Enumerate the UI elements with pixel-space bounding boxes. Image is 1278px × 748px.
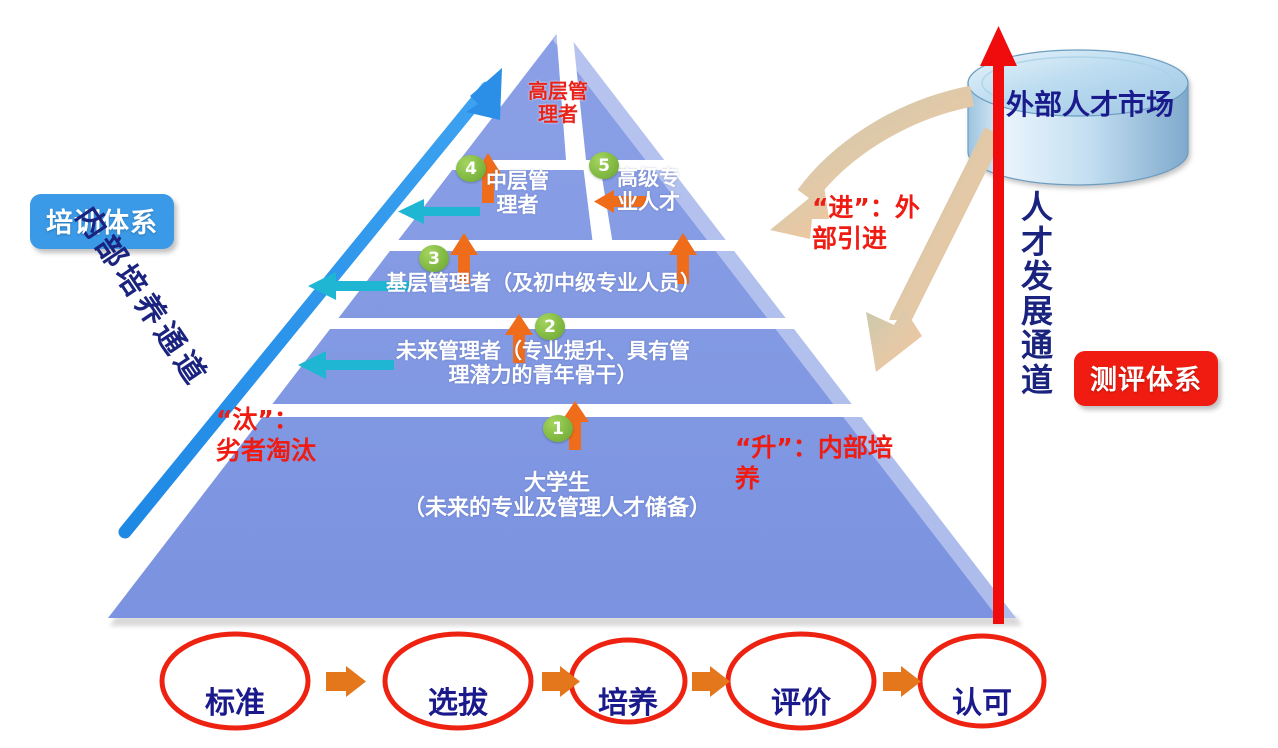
process-flow: 标准 选拔 培养 评价 认可: [0, 628, 1278, 736]
label-external-channel: 人才发展通道: [1016, 190, 1058, 397]
tier-label-senior-specialist: 高级专业人才: [617, 167, 680, 214]
flow-node-label: 认可: [952, 678, 1012, 722]
step-badge-5[interactable]: 5: [589, 152, 619, 179]
step-badge-1[interactable]: 1: [543, 415, 573, 442]
flow-node-recognition[interactable]: 认可: [920, 656, 1044, 746]
tier-label-frontline: 基层管理者（及初中级专业人员）: [386, 272, 701, 296]
step-badge-4[interactable]: 4: [456, 155, 486, 182]
flow-node-label: 标准: [205, 678, 265, 722]
flow-node-standard[interactable]: 标准: [162, 654, 308, 748]
step-badge-3[interactable]: 3: [419, 245, 449, 272]
flow-node-selection[interactable]: 选拔: [385, 654, 531, 748]
tier-label-top-management: 高层管理者: [528, 80, 588, 126]
annotation-elimination: “汰”：劣者淘汰: [216, 404, 316, 467]
tier-label-students: 大学生（未来的专业及管理人才储备）: [403, 472, 711, 521]
annotation-promotion: “升”：内部培养: [735, 432, 893, 495]
flow-node-evaluation[interactable]: 评价: [728, 654, 874, 748]
step-badge-2[interactable]: 2: [535, 313, 565, 340]
flow-node-label: 选拔: [428, 678, 488, 722]
annotation-intake: “进”：外部引进: [812, 192, 920, 255]
flow-node-training[interactable]: 培养: [571, 660, 685, 742]
tier-label-middle-management: 中层管理者: [486, 170, 549, 217]
flow-node-label: 培养: [598, 678, 658, 722]
diagram-canvas: 高层管理者 中层管理者 高级专业人才 基层管理者（及初中级专业人员） 未来管理者…: [0, 0, 1278, 741]
badge-assessment-system[interactable]: 测评体系: [1074, 351, 1218, 406]
flow-node-label: 评价: [771, 678, 831, 722]
label-external-market: 外部人才市场: [1006, 83, 1174, 123]
tier-label-future-manager: 未来管理者（专业提升、具有管理潜力的青年骨干）: [396, 340, 690, 387]
